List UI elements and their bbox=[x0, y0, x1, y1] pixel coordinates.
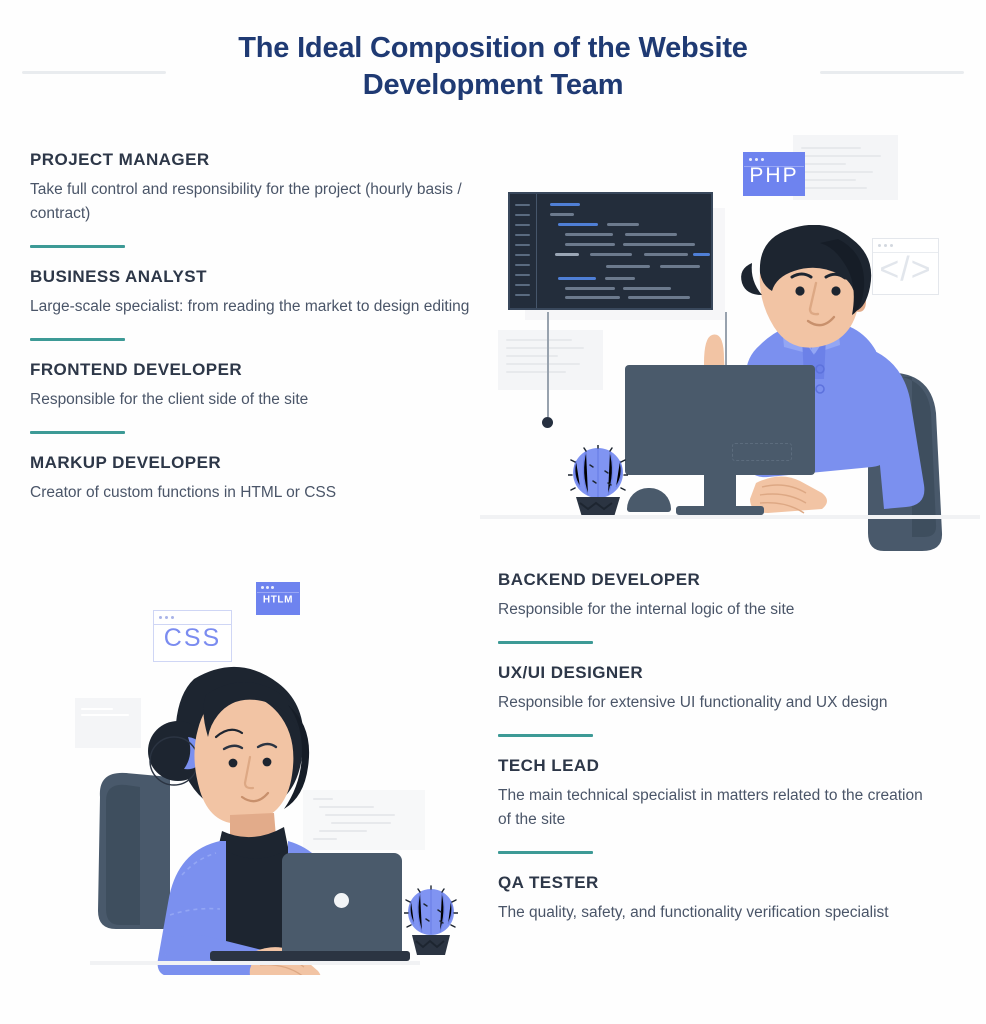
role-item-tech-lead: TECH LEAD The main technical specialist … bbox=[498, 756, 938, 832]
designer-at-laptop-illustration: HTLM CSS bbox=[60, 565, 480, 985]
laptop-base bbox=[210, 951, 410, 961]
page-title-line-1: The Ideal Composition of the Website bbox=[238, 32, 747, 64]
laptop-logo bbox=[334, 893, 349, 908]
left-role-list: PROJECT MANAGER Take full control and re… bbox=[30, 150, 470, 505]
role-title: FRONTEND DEVELOPER bbox=[30, 360, 470, 380]
role-description: The quality, safety, and functionality v… bbox=[498, 901, 938, 925]
paper-note-top bbox=[793, 135, 898, 200]
role-item-markup-developer: MARKUP DEVELOPER Creator of custom funct… bbox=[30, 453, 470, 505]
cactus-icon bbox=[568, 445, 628, 519]
role-description: Responsible for the internal logic of th… bbox=[498, 598, 938, 622]
page-header: The Ideal Composition of the Website Dev… bbox=[0, 30, 986, 120]
editor-line-numbers bbox=[510, 194, 537, 308]
role-title: BUSINESS ANALYST bbox=[30, 267, 470, 287]
role-divider bbox=[498, 641, 593, 644]
page-title: The Ideal Composition of the Website Dev… bbox=[143, 30, 843, 104]
role-item-frontend-developer: FRONTEND DEVELOPER Responsible for the c… bbox=[30, 360, 470, 412]
desk-surface bbox=[90, 961, 420, 965]
css-window: CSS bbox=[153, 610, 232, 662]
eye-left bbox=[795, 286, 804, 295]
eye-right bbox=[831, 286, 840, 295]
hair-back bbox=[741, 263, 762, 295]
developer-at-desk-illustration: PHP </> bbox=[480, 130, 980, 550]
css-label: CSS bbox=[154, 624, 231, 653]
role-divider bbox=[498, 734, 593, 737]
role-divider bbox=[30, 245, 125, 248]
window-titlebar bbox=[257, 583, 299, 593]
cactus-plant-bottom bbox=[404, 885, 458, 957]
role-description: Responsible for the client side of the s… bbox=[30, 388, 470, 412]
role-item-qa-tester: QA TESTER The quality, safety, and funct… bbox=[498, 873, 938, 925]
desk-surface bbox=[480, 515, 980, 519]
role-description: Responsible for extensive UI functionali… bbox=[498, 691, 938, 715]
role-description: Take full control and responsibility for… bbox=[30, 178, 470, 226]
role-title: PROJECT MANAGER bbox=[30, 150, 470, 170]
page-title-line-2: Development Team bbox=[363, 69, 624, 101]
role-title: MARKUP DEVELOPER bbox=[30, 453, 470, 473]
role-description: Large-scale specialist: from reading the… bbox=[30, 295, 470, 319]
role-item-ux-ui-designer: UX/UI DESIGNER Responsible for extensive… bbox=[498, 663, 938, 715]
role-title: BACKEND DEVELOPER bbox=[498, 570, 938, 590]
role-divider bbox=[30, 338, 125, 341]
monitor-logo-plate bbox=[732, 443, 792, 461]
html-label: HTLM bbox=[257, 594, 299, 605]
monitor-neck bbox=[704, 465, 736, 510]
role-title: UX/UI DESIGNER bbox=[498, 663, 938, 683]
role-description: The main technical specialist in matters… bbox=[498, 784, 938, 832]
role-title: QA TESTER bbox=[498, 873, 938, 893]
eye-left bbox=[229, 759, 238, 768]
connector-line-left bbox=[547, 312, 549, 417]
right-role-list: BACKEND DEVELOPER Responsible for the in… bbox=[498, 570, 938, 925]
monitor-base bbox=[676, 506, 764, 515]
role-item-business-analyst: BUSINESS ANALYST Large-scale specialist:… bbox=[30, 267, 470, 319]
php-badge-window: PHP bbox=[743, 152, 805, 196]
role-item-project-manager: PROJECT MANAGER Take full control and re… bbox=[30, 150, 470, 226]
role-description: Creator of custom functions in HTML or C… bbox=[30, 481, 470, 505]
role-divider bbox=[498, 851, 593, 854]
paper-note-left bbox=[498, 330, 603, 390]
eye-right bbox=[263, 758, 272, 767]
html-badge-window: HTLM bbox=[256, 582, 300, 615]
role-item-backend-developer: BACKEND DEVELOPER Responsible for the in… bbox=[498, 570, 938, 622]
role-divider bbox=[30, 431, 125, 434]
php-label: PHP bbox=[744, 164, 804, 188]
role-title: TECH LEAD bbox=[498, 756, 938, 776]
connector-dot-left bbox=[542, 417, 553, 428]
